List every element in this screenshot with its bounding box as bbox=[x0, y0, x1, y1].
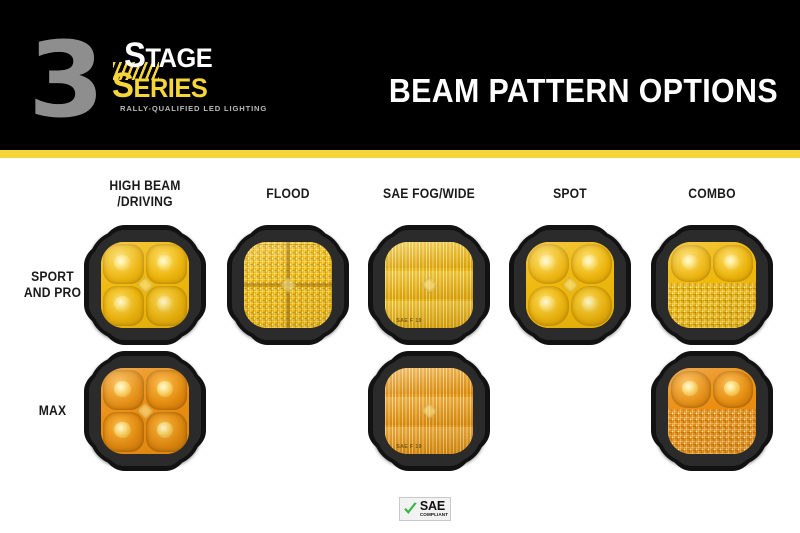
lamp-optics bbox=[385, 242, 474, 329]
lamp-optics bbox=[526, 242, 615, 329]
beam-pattern-grid: HIGH BEAM/DRIVINGFLOODSAE FOG/WIDESPOTCO… bbox=[0, 158, 800, 533]
lamp-optics bbox=[244, 242, 333, 329]
column-header-line: SPOT bbox=[489, 186, 651, 202]
led-pod-combo bbox=[656, 230, 768, 340]
lens-sae-marking: SAE F 19 bbox=[396, 318, 422, 324]
column-header-line: HIGH BEAM bbox=[64, 178, 226, 194]
lamp-lens-area: SAE F 19 bbox=[385, 368, 474, 455]
lens-optic-pod bbox=[103, 286, 144, 326]
lamp-lens-area bbox=[526, 242, 615, 329]
column-header-sae-fog-wide: SAE FOG/WIDE bbox=[348, 186, 510, 202]
lens-flute-band bbox=[385, 427, 474, 455]
lens-optic-pod bbox=[103, 412, 144, 452]
lamp-cell-sport-and-pro-combo[interactable] bbox=[656, 230, 768, 340]
lens-optic-pod bbox=[103, 370, 144, 410]
beam-pattern-options-infographic: 3 STAGE SERIES RALLY-QUALIFIED LED LIGHT… bbox=[0, 0, 800, 533]
lens-optic-pod bbox=[146, 286, 187, 326]
column-header-high-beam-driving: HIGH BEAM/DRIVING bbox=[64, 178, 226, 210]
lamp-cell-max-sae-fog-wide[interactable]: SAE F 19 bbox=[373, 356, 485, 466]
lamp-optics bbox=[385, 368, 474, 455]
column-header-combo: COMBO bbox=[631, 186, 793, 202]
lamp-cell-sport-and-pro-spot[interactable] bbox=[514, 230, 626, 340]
led-pod-highbeam bbox=[89, 356, 201, 466]
lens-optic-pod bbox=[571, 286, 612, 326]
lamp-optics bbox=[101, 368, 190, 455]
column-header-row: HIGH BEAM/DRIVINGFLOODSAE FOG/WIDESPOTCO… bbox=[0, 178, 800, 218]
lamp-lens-area bbox=[244, 242, 333, 329]
lens-combo-flood-half bbox=[668, 283, 757, 328]
lamp-lens-area bbox=[101, 368, 190, 455]
lamp-lens-area bbox=[101, 242, 190, 329]
lens-flute-band bbox=[385, 242, 474, 268]
logo-series-rest: ERIES bbox=[133, 73, 207, 103]
lens-optic-pod bbox=[671, 371, 711, 408]
led-pod-fog: SAE F 19 bbox=[373, 356, 485, 466]
lamp-optics bbox=[101, 242, 190, 329]
column-header-line: /DRIVING bbox=[64, 194, 226, 210]
header-accent-bar bbox=[0, 150, 800, 158]
lens-optic-pod bbox=[671, 245, 711, 282]
lamp-optics bbox=[668, 368, 757, 455]
lens-optic-pod bbox=[146, 412, 187, 452]
logo-series-cap: S bbox=[112, 66, 133, 105]
logo-line-stage: STAGE bbox=[124, 42, 212, 72]
lamp-lens-area: SAE F 19 bbox=[385, 242, 474, 329]
sae-badge-text: SAE COMPLIANT bbox=[420, 500, 448, 518]
lamp-cell-sport-and-pro-flood[interactable] bbox=[232, 230, 344, 340]
lens-grid-dots bbox=[668, 283, 757, 328]
logo-numeral-3: 3 bbox=[28, 28, 98, 132]
column-header-spot: SPOT bbox=[489, 186, 651, 202]
column-header-flood: FLOOD bbox=[207, 186, 369, 202]
lamp-cell-sport-and-pro-high-beam-driving[interactable] bbox=[89, 230, 201, 340]
lens-optic-pod bbox=[528, 244, 569, 284]
lens-optic-pod bbox=[146, 370, 187, 410]
lens-optic-pod bbox=[713, 245, 753, 282]
lens-optic-pod bbox=[713, 371, 753, 408]
lamp-optics bbox=[668, 242, 757, 329]
lamp-cell-max-high-beam-driving[interactable] bbox=[89, 356, 201, 466]
header-bar: 3 STAGE SERIES RALLY-QUALIFIED LED LIGHT… bbox=[0, 0, 800, 150]
lens-optic-pod bbox=[146, 244, 187, 284]
logo-wordmark: STAGE SERIES RALLY-QUALIFIED LED LIGHTIN… bbox=[108, 42, 248, 122]
led-pod-flood bbox=[232, 230, 344, 340]
stage-series-logo: 3 STAGE SERIES RALLY-QUALIFIED LED LIGHT… bbox=[28, 26, 243, 126]
sae-badge-primary: SAE bbox=[420, 500, 445, 512]
page-title: BEAM PATTERN OPTIONS bbox=[389, 74, 778, 107]
logo-line-series: SERIES bbox=[112, 72, 207, 102]
sae-compliant-badge: SAE COMPLIANT bbox=[399, 497, 451, 521]
led-pod-fog: SAE F 19 bbox=[373, 230, 485, 340]
lens-grid-dots bbox=[668, 409, 757, 454]
led-pod-highbeam bbox=[89, 230, 201, 340]
column-header-line: COMBO bbox=[631, 186, 793, 202]
lens-flute-band bbox=[385, 301, 474, 329]
lens-sae-marking: SAE F 19 bbox=[396, 444, 422, 450]
sae-badge-secondary: COMPLIANT bbox=[420, 512, 448, 518]
column-header-line: FLOOD bbox=[207, 186, 369, 202]
lens-optic-pod bbox=[571, 244, 612, 284]
lamp-lens-area bbox=[668, 242, 757, 329]
led-pod-combo bbox=[656, 356, 768, 466]
lamp-cell-max-combo[interactable] bbox=[656, 356, 768, 466]
lens-combo-spot-half bbox=[668, 242, 757, 284]
column-header-line: SAE FOG/WIDE bbox=[348, 186, 510, 202]
lens-flute-band bbox=[385, 368, 474, 394]
green-check-icon bbox=[402, 500, 419, 518]
led-pod-spot bbox=[514, 230, 626, 340]
logo-tagline: RALLY-QUALIFIED LED LIGHTING bbox=[120, 104, 267, 113]
lens-combo-flood-half bbox=[668, 409, 757, 454]
lens-optic-pod bbox=[103, 244, 144, 284]
logo-stage-rest: TAGE bbox=[145, 43, 212, 73]
lamp-cell-sport-and-pro-sae-fog-wide[interactable]: SAE F 19 bbox=[373, 230, 485, 340]
lens-optic-pod bbox=[528, 286, 569, 326]
lens-combo-spot-half bbox=[668, 368, 757, 410]
lamp-lens-area bbox=[668, 368, 757, 455]
